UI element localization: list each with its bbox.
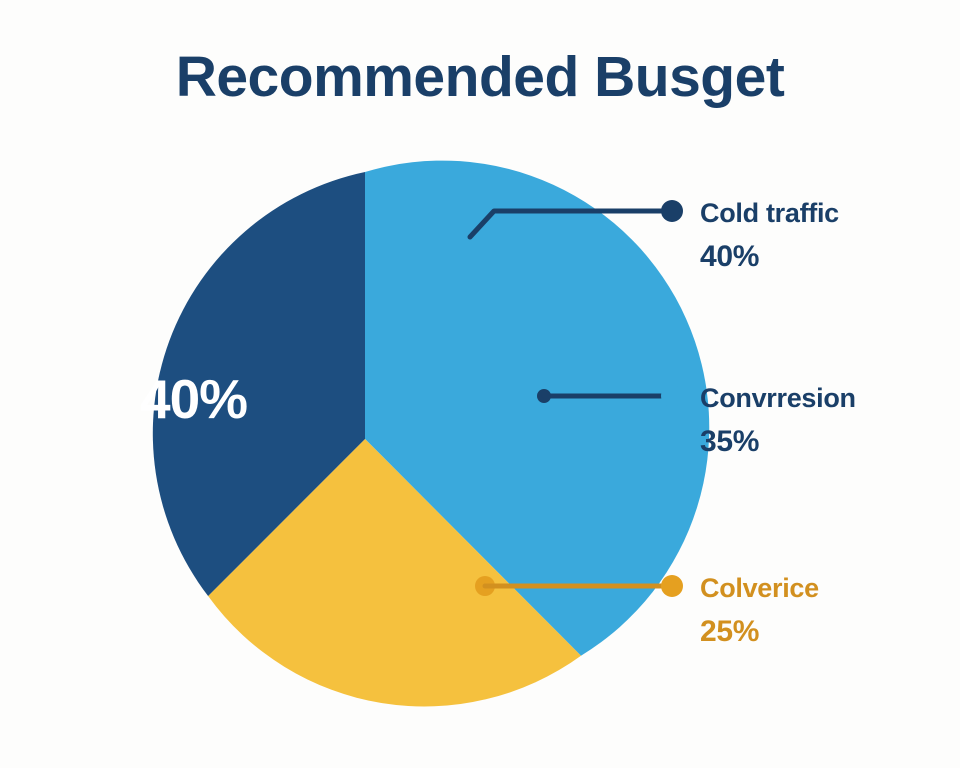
legend-dot-cold-traffic	[661, 200, 683, 222]
legend-value-colverice: 25%	[700, 615, 759, 649]
legend-value-convrresion: 35%	[700, 425, 759, 459]
legend-label-colverice[interactable]: Colverice	[700, 573, 819, 604]
legend-label-convrresion[interactable]: Convrresion	[700, 383, 856, 414]
pie-chart-figure: Recommended Busget 40% Cold traffic 40% …	[0, 0, 960, 768]
legend-dot-convrresion	[661, 385, 683, 407]
legend-dot-colverice	[661, 575, 683, 597]
legend-value-cold-traffic: 40%	[700, 240, 759, 274]
legend-label-cold-traffic[interactable]: Cold traffic	[700, 198, 839, 229]
slice-label-cold-traffic: 40%	[140, 368, 247, 430]
